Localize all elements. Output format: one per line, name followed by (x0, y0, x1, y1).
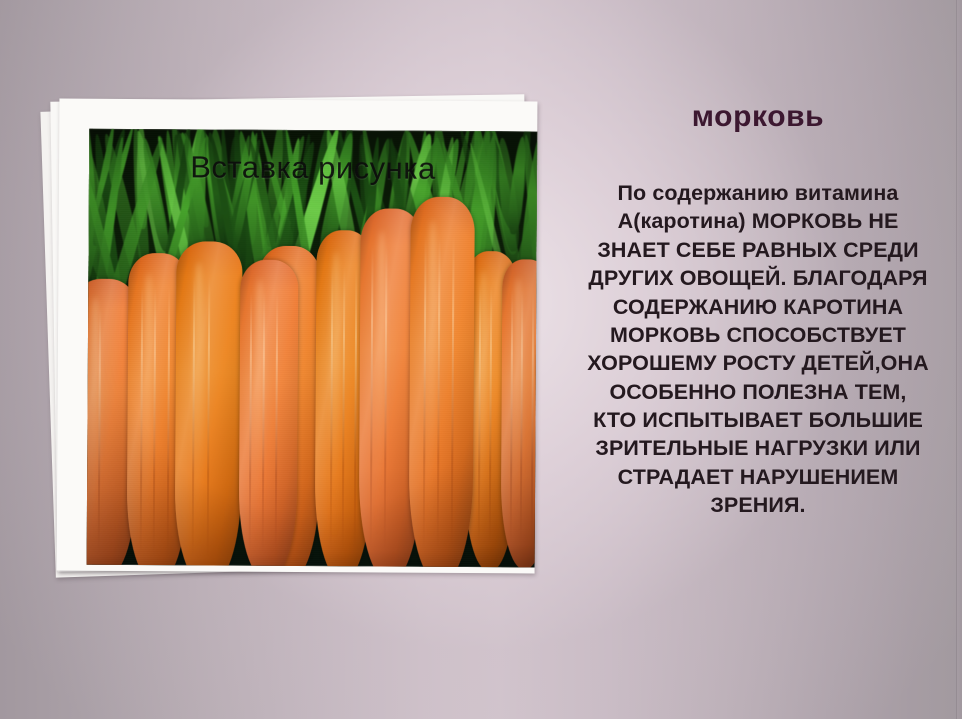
slide-right-seam-line (956, 0, 957, 719)
body-line: А(каротина) МОРКОВЬ НЕ (566, 207, 950, 235)
carrot-ridge (530, 290, 534, 544)
carrot-ridge (262, 292, 266, 554)
carrot (408, 197, 474, 568)
carrot-scene-illustration (87, 129, 538, 568)
carrot-ridge (140, 286, 144, 557)
carrot-photo: Вставка рисунка (87, 129, 538, 568)
carrot-ridge (478, 283, 482, 545)
picture-placeholder[interactable]: Вставка рисунка (40, 86, 540, 586)
carrot-ridge (509, 290, 513, 544)
body-line: ХОРОШЕМУ РОСТУ ДЕТЕЙ,ОНА (566, 349, 950, 377)
carrot-ridge (97, 309, 101, 555)
body-line: КТО ИСПЫТЫВАЕТ БОЛЬШИЕ (566, 406, 950, 434)
carrot-ridge (192, 276, 196, 559)
carrot-ridge (489, 283, 493, 545)
body-line: ДРУГИХ ОВОЩЕЙ. БЛАГОДАРЯ (566, 264, 950, 292)
carrot-ridge (206, 276, 210, 559)
body-line: СТРАДАЕТ НАРУШЕНИЕМ (566, 463, 950, 491)
text-column: морковь По содержанию витаминаА(каротина… (562, 100, 954, 520)
body-line: ЗРЕНИЯ. (566, 491, 950, 519)
body-line: СОДЕРЖАНИЮ КАРОТИНА (566, 293, 950, 321)
carrot-ridge (370, 246, 374, 551)
carrot-ridge (383, 246, 387, 551)
slide-canvas: Вставка рисунка морковь По содержанию ви… (0, 0, 962, 719)
carrot-ridge (275, 292, 279, 554)
carrot-ridge (249, 292, 253, 554)
carrot-ridge (166, 286, 170, 557)
body-line: ЗНАЕТ СЕБЕ РАВНЫХ СРЕДИ (566, 236, 950, 264)
page-title: морковь (562, 100, 954, 133)
body-line: ЗРИТЕЛЬНЫЕ НАГРУЗКИ ИЛИ (566, 434, 950, 462)
photo-paper-layer-front: Вставка рисунка (57, 99, 538, 574)
body-paragraph: По содержанию витаминаА(каротина) МОРКОВ… (562, 179, 954, 520)
insert-picture-placeholder-label: Вставка рисунка (89, 149, 537, 188)
carrot-ridge (423, 235, 427, 552)
carrot (174, 241, 242, 567)
carrot (239, 260, 299, 568)
carrot-ridge (354, 265, 358, 552)
carrot-ridge (153, 286, 157, 557)
carrot-ridge (342, 265, 346, 552)
carrot (501, 259, 538, 567)
carrot-ridge (451, 236, 455, 553)
body-line: По содержанию витамина (566, 179, 950, 207)
carrot-ridge (329, 265, 333, 552)
slide-right-edge-strip (957, 0, 962, 719)
carrot-ridge (437, 235, 441, 552)
body-line: ОСОБЕННО ПОЛЕЗНА ТЕМ, (566, 378, 950, 406)
carrot-ridge (87, 309, 88, 555)
carrot-ridge (520, 290, 524, 544)
body-line: МОРКОВЬ СПОСОБСТВУЕТ (566, 321, 950, 349)
